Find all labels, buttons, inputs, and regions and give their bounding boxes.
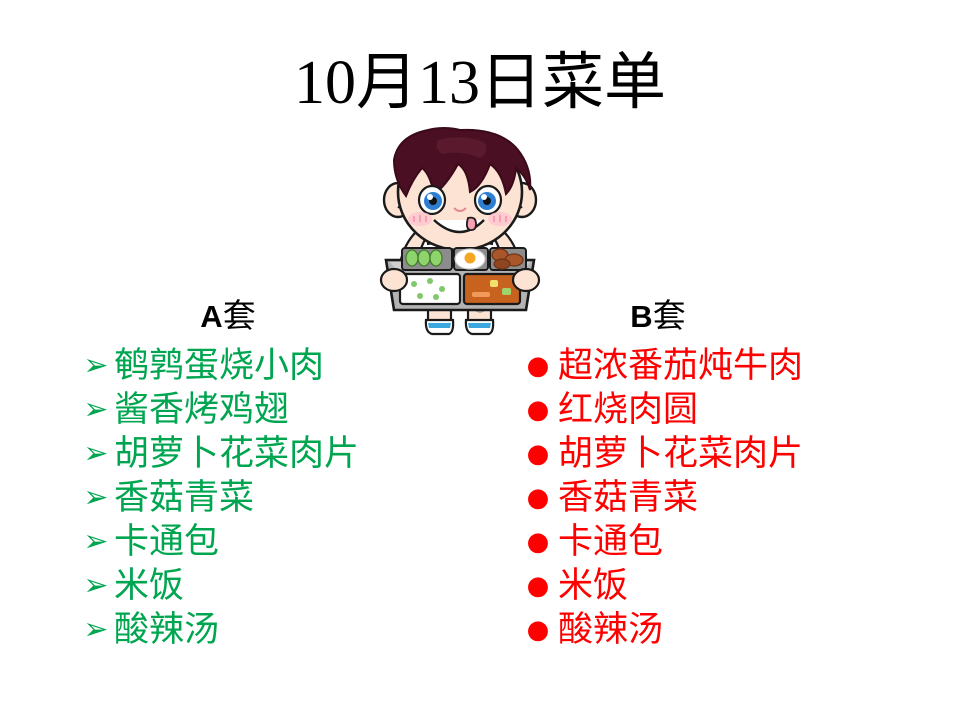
menu-item-label: 红烧肉圆 (558, 388, 698, 432)
set-a-header-cjk: 套 (223, 299, 256, 335)
tongue (467, 218, 476, 231)
red-dot-bullet-icon: ● (518, 520, 558, 564)
page-title: 10月13日菜单 (0, 52, 960, 114)
list-item: ➢ 鹌鹑蛋烧小肉 (78, 344, 498, 388)
set-a-header: A套 (78, 300, 498, 334)
set-b-item-list: ● 超浓番茄炖牛肉 ● 红烧肉圆 ● 胡萝卜花菜肉片 ● 香菇青菜 ● 卡通包 … (518, 344, 948, 652)
list-item: ➢ 卡通包 (78, 520, 498, 564)
green-arrow-bullet-icon: ➢ (78, 388, 114, 432)
list-item: ● 酸辣汤 (518, 608, 948, 652)
menu-item-label: 卡通包 (558, 520, 663, 564)
food-vegetables (406, 250, 442, 266)
list-item: ● 超浓番茄炖牛肉 (518, 344, 948, 388)
red-dot-bullet-icon: ● (518, 608, 558, 652)
red-dot-bullet-icon: ● (518, 344, 558, 388)
menu-set-a-column: A套 ➢ 鹌鹑蛋烧小肉 ➢ 酱香烤鸡翅 ➢ 胡萝卜花菜肉片 ➢ 香菇青菜 ➢ 卡… (78, 300, 498, 652)
menu-item-label: 超浓番茄炖牛肉 (558, 344, 803, 388)
left-hand (381, 269, 407, 291)
set-b-header-latin: B (630, 299, 652, 334)
menu-item-label: 胡萝卜花菜肉片 (558, 432, 803, 476)
menu-slide: 10月13日菜单 (0, 0, 960, 720)
green-arrow-bullet-icon: ➢ (78, 564, 114, 608)
list-item: ● 胡萝卜花菜肉片 (518, 432, 948, 476)
set-a-header-latin: A (200, 299, 222, 334)
menu-item-label: 米饭 (558, 564, 628, 608)
menu-item-label: 香菇青菜 (114, 476, 254, 520)
list-item: ➢ 酸辣汤 (78, 608, 498, 652)
list-item: ● 米饭 (518, 564, 948, 608)
menu-item-label: 鹌鹑蛋烧小肉 (114, 344, 324, 388)
set-b-header: B套 (518, 300, 948, 334)
menu-item-label: 酸辣汤 (558, 608, 663, 652)
green-arrow-bullet-icon: ➢ (78, 608, 114, 652)
menu-item-label: 酸辣汤 (114, 608, 219, 652)
right-hand (513, 269, 539, 291)
set-a-item-list: ➢ 鹌鹑蛋烧小肉 ➢ 酱香烤鸡翅 ➢ 胡萝卜花菜肉片 ➢ 香菇青菜 ➢ 卡通包 … (78, 344, 498, 652)
menu-item-label: 香菇青菜 (558, 476, 698, 520)
red-dot-bullet-icon: ● (518, 432, 558, 476)
menu-item-label: 米饭 (114, 564, 184, 608)
list-item: ● 卡通包 (518, 520, 948, 564)
red-dot-bullet-icon: ● (518, 388, 558, 432)
list-item: ● 红烧肉圆 (518, 388, 948, 432)
menu-item-label: 酱香烤鸡翅 (114, 388, 289, 432)
menu-item-label: 卡通包 (114, 520, 219, 564)
list-item: ● 香菇青菜 (518, 476, 948, 520)
list-item: ➢ 胡萝卜花菜肉片 (78, 432, 498, 476)
menu-item-label: 胡萝卜花菜肉片 (114, 432, 359, 476)
food-fried-egg (455, 249, 485, 269)
green-arrow-bullet-icon: ➢ (78, 344, 114, 388)
green-arrow-bullet-icon: ➢ (78, 476, 114, 520)
menu-set-b-column: B套 ● 超浓番茄炖牛肉 ● 红烧肉圆 ● 胡萝卜花菜肉片 ● 香菇青菜 ● 卡… (518, 300, 948, 652)
list-item: ➢ 香菇青菜 (78, 476, 498, 520)
list-item: ➢ 酱香烤鸡翅 (78, 388, 498, 432)
red-dot-bullet-icon: ● (518, 476, 558, 520)
list-item: ➢ 米饭 (78, 564, 498, 608)
green-arrow-bullet-icon: ➢ (78, 520, 114, 564)
red-dot-bullet-icon: ● (518, 564, 558, 608)
set-b-header-cjk: 套 (653, 299, 686, 335)
green-arrow-bullet-icon: ➢ (78, 432, 114, 476)
